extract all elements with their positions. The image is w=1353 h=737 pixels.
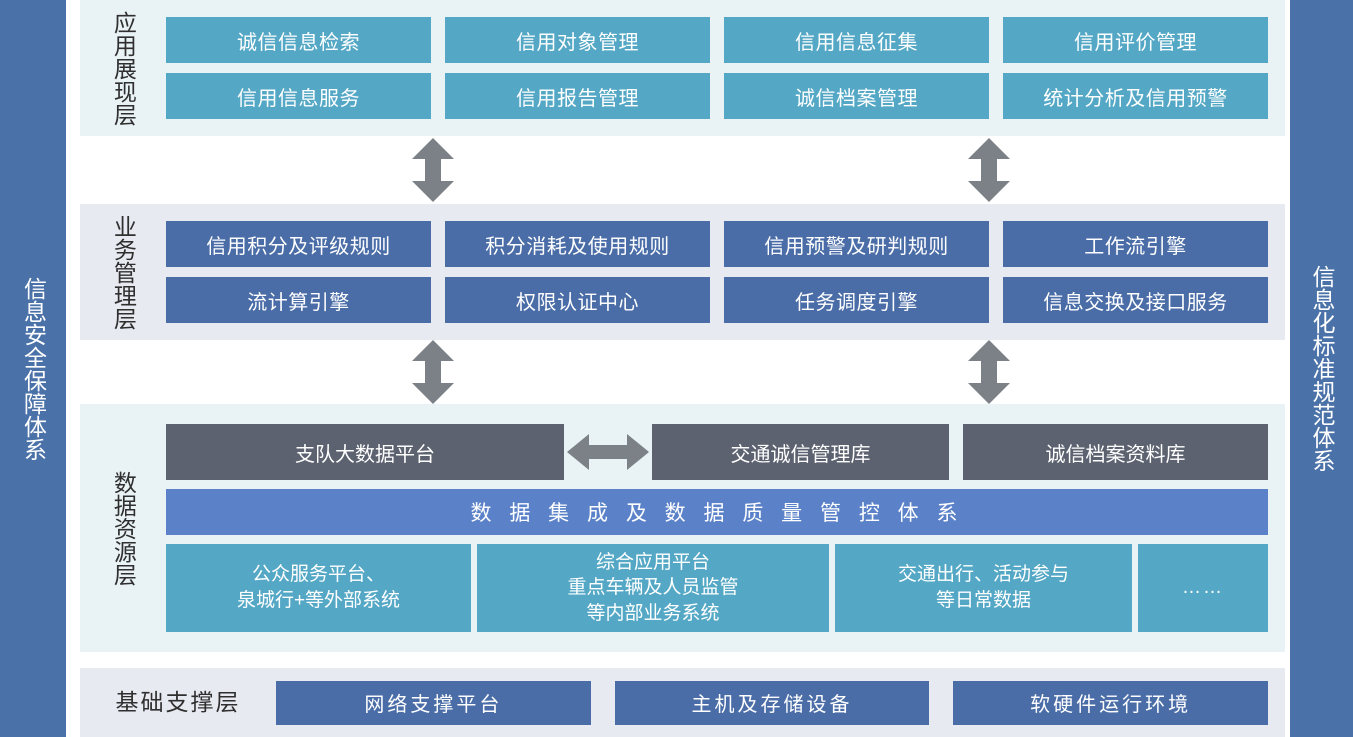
right-vertical-band: 信息化标准规范体系: [1290, 0, 1353, 737]
database-big-data-platform[interactable]: 支队大数据平台: [166, 424, 564, 480]
biz-module-stream-compute-engine[interactable]: 流计算引擎: [166, 277, 431, 323]
connector-arrow-app-biz-left: [412, 138, 454, 202]
application-row-1: 诚信信息检索 信用对象管理 信用信息征集 信用评价管理: [166, 17, 1268, 63]
connector-arrow-app-biz-right: [968, 138, 1010, 202]
layer-stack: 应用展现层 诚信信息检索 信用对象管理 信用信息征集 信用评价管理 信用信息服务…: [80, 0, 1285, 737]
layer-data-body: 支队大数据平台 交通诚信管理库 诚信档案资料库 数 据 集 成 及 数 据 质 …: [166, 404, 1285, 652]
layer-application-title: 应用展现层: [80, 0, 166, 136]
app-module-credit-subject-mgmt[interactable]: 信用对象管理: [445, 17, 710, 63]
database-traffic-integrity-db[interactable]: 交通诚信管理库: [652, 424, 949, 480]
biz-module-point-consumption-rules[interactable]: 积分消耗及使用规则: [445, 221, 710, 267]
layer-base-support: 基础支撑层 网络支撑平台 主机及存储设备 软硬件运行环境: [80, 668, 1285, 737]
architecture-diagram: 信息安全保障体系 信息化标准规范体系 应用展现层 诚信信息检索 信用对象管理 信…: [0, 0, 1353, 737]
layer-data-resource: 数据资源层 支队大数据平台 交通诚信管理库 诚信档案资料库 数 据 集 成 及 …: [80, 404, 1285, 652]
left-vertical-band: 信息安全保障体系: [0, 0, 66, 737]
layer-business-body: 信用积分及评级规则 积分消耗及使用规则 信用预警及研判规则 工作流引擎 流计算引…: [166, 204, 1285, 340]
data-source-daily-travel-activity[interactable]: 交通出行、活动参与 等日常数据: [835, 544, 1132, 632]
app-module-credit-evaluation-mgmt[interactable]: 信用评价管理: [1003, 17, 1268, 63]
biz-module-task-scheduler-engine[interactable]: 任务调度引擎: [724, 277, 989, 323]
layer-data-title: 数据资源层: [80, 404, 166, 652]
data-stack: 支队大数据平台 交通诚信管理库 诚信档案资料库 数 据 集 成 及 数 据 质 …: [166, 424, 1268, 632]
biz-module-info-exchange-api-service[interactable]: 信息交换及接口服务: [1003, 277, 1268, 323]
biz-module-credit-warning-rules[interactable]: 信用预警及研判规则: [724, 221, 989, 267]
base-module-runtime-environment[interactable]: 软硬件运行环境: [953, 681, 1268, 725]
app-module-credit-info-collection[interactable]: 信用信息征集: [724, 17, 989, 63]
layer-application-presentation: 应用展现层 诚信信息检索 信用对象管理 信用信息征集 信用评价管理 信用信息服务…: [80, 0, 1285, 136]
horizontal-exchange-arrow-icon: [564, 424, 652, 480]
biz-module-credit-score-rating-rules[interactable]: 信用积分及评级规则: [166, 221, 431, 267]
data-source-row: 公众服务平台、 泉城行+等外部系统 综合应用平台 重点车辆及人员监管 等内部业务…: [166, 544, 1268, 632]
data-source-public-service-platform[interactable]: 公众服务平台、 泉城行+等外部系统: [166, 544, 471, 632]
left-vertical-band-label: 信息安全保障体系: [13, 277, 54, 461]
app-module-credit-info-service[interactable]: 信用信息服务: [166, 73, 431, 119]
app-module-integrity-archive-mgmt[interactable]: 诚信档案管理: [724, 73, 989, 119]
data-source-ellipsis[interactable]: ……: [1138, 544, 1268, 632]
base-row: 网络支撑平台 主机及存储设备 软硬件运行环境: [276, 668, 1268, 737]
layer-base-body: 网络支撑平台 主机及存储设备 软硬件运行环境: [276, 668, 1285, 737]
database-integrity-archive-db[interactable]: 诚信档案资料库: [963, 424, 1268, 480]
database-row: 支队大数据平台 交通诚信管理库 诚信档案资料库: [166, 424, 1268, 480]
base-module-host-storage[interactable]: 主机及存储设备: [615, 681, 930, 725]
layer-application-body: 诚信信息检索 信用对象管理 信用信息征集 信用评价管理 信用信息服务 信用报告管…: [166, 0, 1285, 136]
data-integration-quality-band: 数 据 集 成 及 数 据 质 量 管 控 体 系: [166, 489, 1268, 535]
app-module-credit-report-mgmt[interactable]: 信用报告管理: [445, 73, 710, 119]
right-vertical-band-label: 信息化标准规范体系: [1301, 265, 1342, 472]
base-module-network-platform[interactable]: 网络支撑平台: [276, 681, 591, 725]
biz-module-workflow-engine[interactable]: 工作流引擎: [1003, 221, 1268, 267]
business-row-2: 流计算引擎 权限认证中心 任务调度引擎 信息交换及接口服务: [166, 277, 1268, 323]
layer-base-title: 基础支撑层: [80, 668, 276, 737]
app-module-statistics-and-warning[interactable]: 统计分析及信用预警: [1003, 73, 1268, 119]
app-module-credit-info-search[interactable]: 诚信信息检索: [166, 17, 431, 63]
application-row-2: 信用信息服务 信用报告管理 诚信档案管理 统计分析及信用预警: [166, 73, 1268, 119]
layer-business-title: 业务管理层: [80, 204, 166, 340]
data-source-integrated-app-platform[interactable]: 综合应用平台 重点车辆及人员监管 等内部业务系统: [477, 544, 829, 632]
connector-arrow-biz-data-left: [412, 340, 454, 404]
business-row-1: 信用积分及评级规则 积分消耗及使用规则 信用预警及研判规则 工作流引擎: [166, 221, 1268, 267]
connector-arrow-biz-data-right: [968, 340, 1010, 404]
biz-module-auth-center[interactable]: 权限认证中心: [445, 277, 710, 323]
layer-business-management: 业务管理层 信用积分及评级规则 积分消耗及使用规则 信用预警及研判规则 工作流引…: [80, 204, 1285, 340]
